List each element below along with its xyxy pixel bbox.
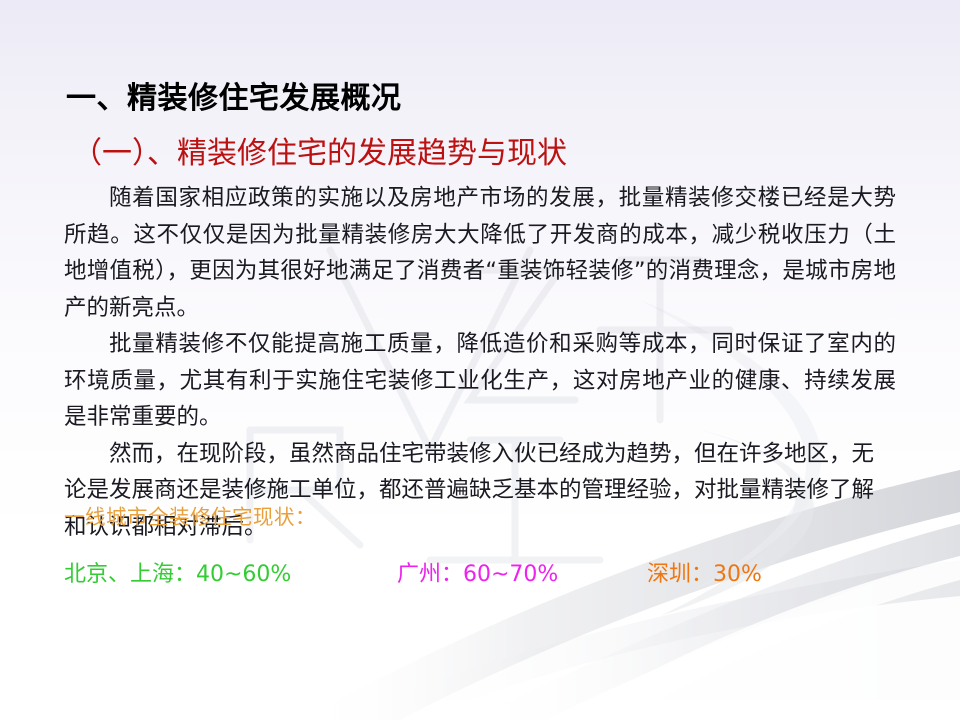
body-paragraph-1: 随着国家相应政策的实施以及房地产市场的发展，批量精装修交楼已经是大势所趋。这不仅… [64,180,896,326]
body-text-block: 随着国家相应政策的实施以及房地产市场的发展，批量精装修交楼已经是大势所趋。这不仅… [64,180,896,545]
stat-guangzhou: 广州：60~70% [397,556,558,588]
section-heading-city-status: 一线城市全装修住宅现状： [64,500,316,530]
page-title: 一、精装修住宅发展概况 [66,73,402,117]
stat-beijing-shanghai: 北京、上海：40~60% [64,556,291,588]
slide: 一、精装修住宅发展概况 （一）、精装修住宅的发展趋势与现状 随着国家相应政策的实… [0,0,960,720]
section-subtitle: （一）、精装修住宅的发展趋势与现状 [72,128,567,172]
city-stats-row: 北京、上海：40~60% 广州：60~70% 深圳：30% [64,556,904,590]
slide-content: 一、精装修住宅发展概况 （一）、精装修住宅的发展趋势与现状 随着国家相应政策的实… [0,0,960,720]
body-paragraph-2: 批量精装修不仅能提高施工质量，降低造价和采购等成本，同时保证了室内的环境质量，尤… [64,326,896,436]
stat-shenzhen: 深圳：30% [647,556,762,588]
